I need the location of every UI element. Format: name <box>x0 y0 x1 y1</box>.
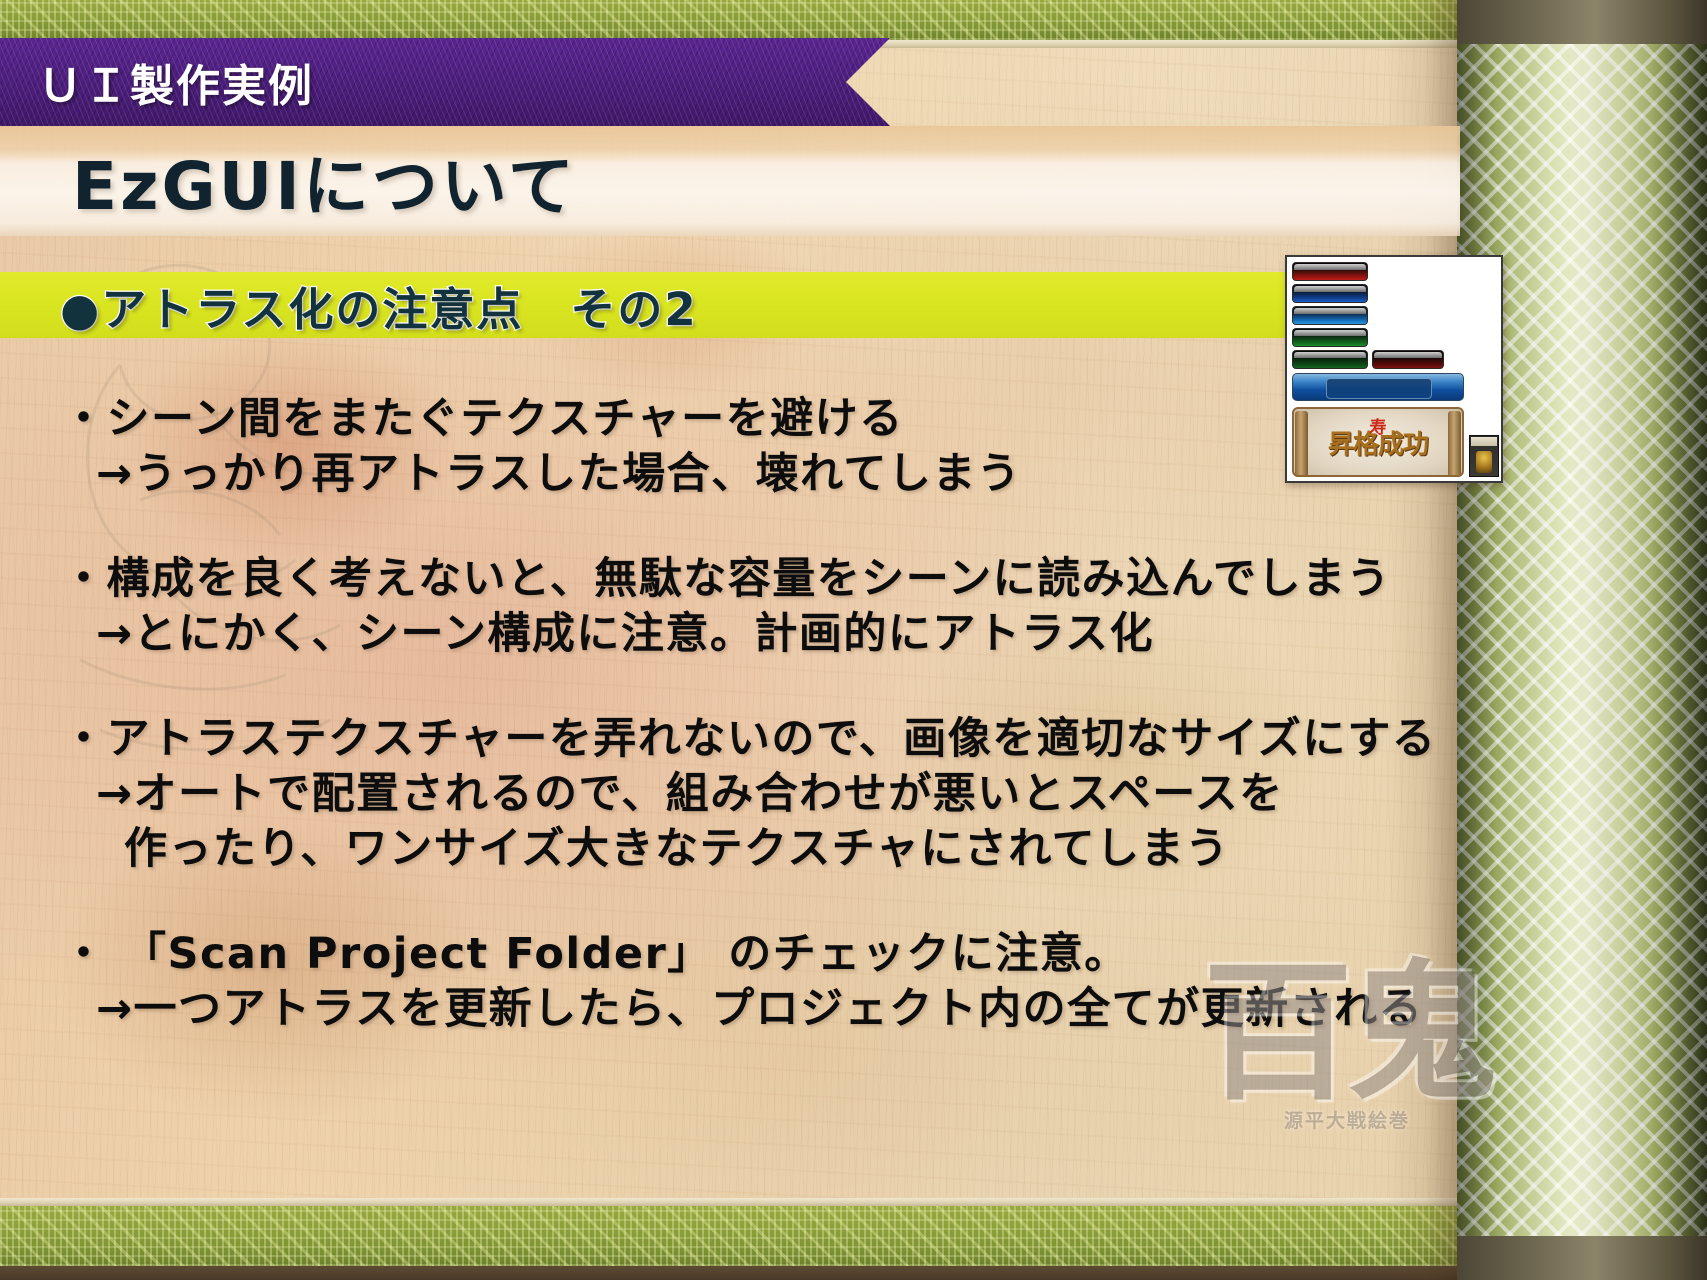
bullet-line: ・ 「Scan Project Folder」 のチェックに注意。 <box>62 927 1442 982</box>
section-ribbon: ＵＩ製作実例 <box>0 38 890 126</box>
subtitle-text: ●アトラス化の注意点 その2 <box>60 273 698 338</box>
scroll-cap-top <box>1457 0 1707 44</box>
atlas-sprite-red-banner <box>1292 262 1368 281</box>
atlas-sprite-dark-green-banner <box>1292 350 1368 369</box>
atlas-sprite-green-banner <box>1292 328 1368 347</box>
section-ribbon-label: ＵＩ製作実例 <box>38 50 314 114</box>
bullet-block: ・ 「Scan Project Folder」 のチェックに注意。 →一つアトラ… <box>62 927 1442 1037</box>
bottom-dark-strip <box>0 1266 1460 1280</box>
bullet-line: ・シーン間をまたぐテクスチャーを避ける <box>62 392 1442 447</box>
bullet-line: ・アトラステクスチャーを弄れないので、画像を適切なサイズにする <box>62 712 1442 767</box>
atlas-sprite-character-card <box>1469 435 1499 477</box>
slide-root: ＵＩ製作実例 EzGUIについて ●アトラス化の注意点 その2 ・シーン間をまた… <box>0 0 1707 1280</box>
scroll-rod-left <box>1295 411 1308 477</box>
page-title: EzGUIについて <box>72 133 577 229</box>
bullet-line: →一つアトラスを更新したら、プロジェクト内の全てが更新される <box>62 982 1442 1037</box>
scroll-kotobuki-kanji: 寿 <box>1370 413 1387 438</box>
bullet-line: →うっかり再アトラスした場合、壊れてしまう <box>62 447 1442 502</box>
bullet-block: ・アトラステクスチャーを弄れないので、画像を適切なサイズにする →オートで配置さ… <box>62 712 1442 877</box>
subtitle-bar: ●アトラス化の注意点 その2 <box>0 272 1460 338</box>
atlas-sprite-blue-wide-bar <box>1292 373 1464 401</box>
bullet-line: ・構成を良く考えないと、無駄な容量をシーンに読み込んでしまう <box>62 552 1442 607</box>
sprite-cap <box>1294 264 1366 270</box>
sprite-cap <box>1294 352 1366 358</box>
top-fabric-border <box>0 0 1460 40</box>
card-figure <box>1476 451 1492 473</box>
sprite-cap <box>1294 286 1366 292</box>
bullet-block: ・シーン間をまたぐテクスチャーを避ける →うっかり再アトラスした場合、壊れてしま… <box>62 392 1442 502</box>
card-header-strip <box>1471 437 1497 446</box>
scroll-roll <box>1457 0 1707 1280</box>
bullet-line: 作ったり、ワンサイズ大きなテクスチャにされてしまう <box>62 822 1442 877</box>
sprite-cap <box>1294 330 1366 336</box>
atlas-sprite-light-blue-banner <box>1292 306 1368 325</box>
logo-subtitle: 源平大戦絵巻 <box>1284 1106 1410 1133</box>
bullet-line: →とにかく、シーン構成に注意。計画的にアトラス化 <box>62 607 1442 662</box>
bullet-line: →オートで配置されるので、組み合わせが悪いとスペースを <box>62 767 1442 822</box>
sprite-cap <box>1294 308 1366 314</box>
scroll-cap-bottom <box>1457 1236 1707 1280</box>
atlas-sprite-scroll-banner: 寿 昇格成功 <box>1292 407 1464 477</box>
title-band: EzGUIについて <box>0 126 1460 236</box>
bottom-fabric-edge <box>0 1198 1460 1206</box>
bullet-block: ・構成を良く考えないと、無駄な容量をシーンに読み込んでしまう →とにかく、シーン… <box>62 552 1442 662</box>
atlas-preview-thumbnail: 寿 昇格成功 <box>1285 255 1503 483</box>
sprite-cap <box>1374 352 1442 358</box>
bullet-list: ・シーン間をまたぐテクスチャーを避ける →うっかり再アトラスした場合、壊れてしま… <box>62 392 1442 1087</box>
atlas-preview-canvas: 寿 昇格成功 <box>1287 257 1501 481</box>
scroll-rod-right <box>1448 411 1461 477</box>
atlas-sprite-dark-red-banner <box>1372 350 1444 369</box>
bottom-fabric-border <box>0 1206 1460 1266</box>
atlas-sprite-blue-banner <box>1292 284 1368 303</box>
